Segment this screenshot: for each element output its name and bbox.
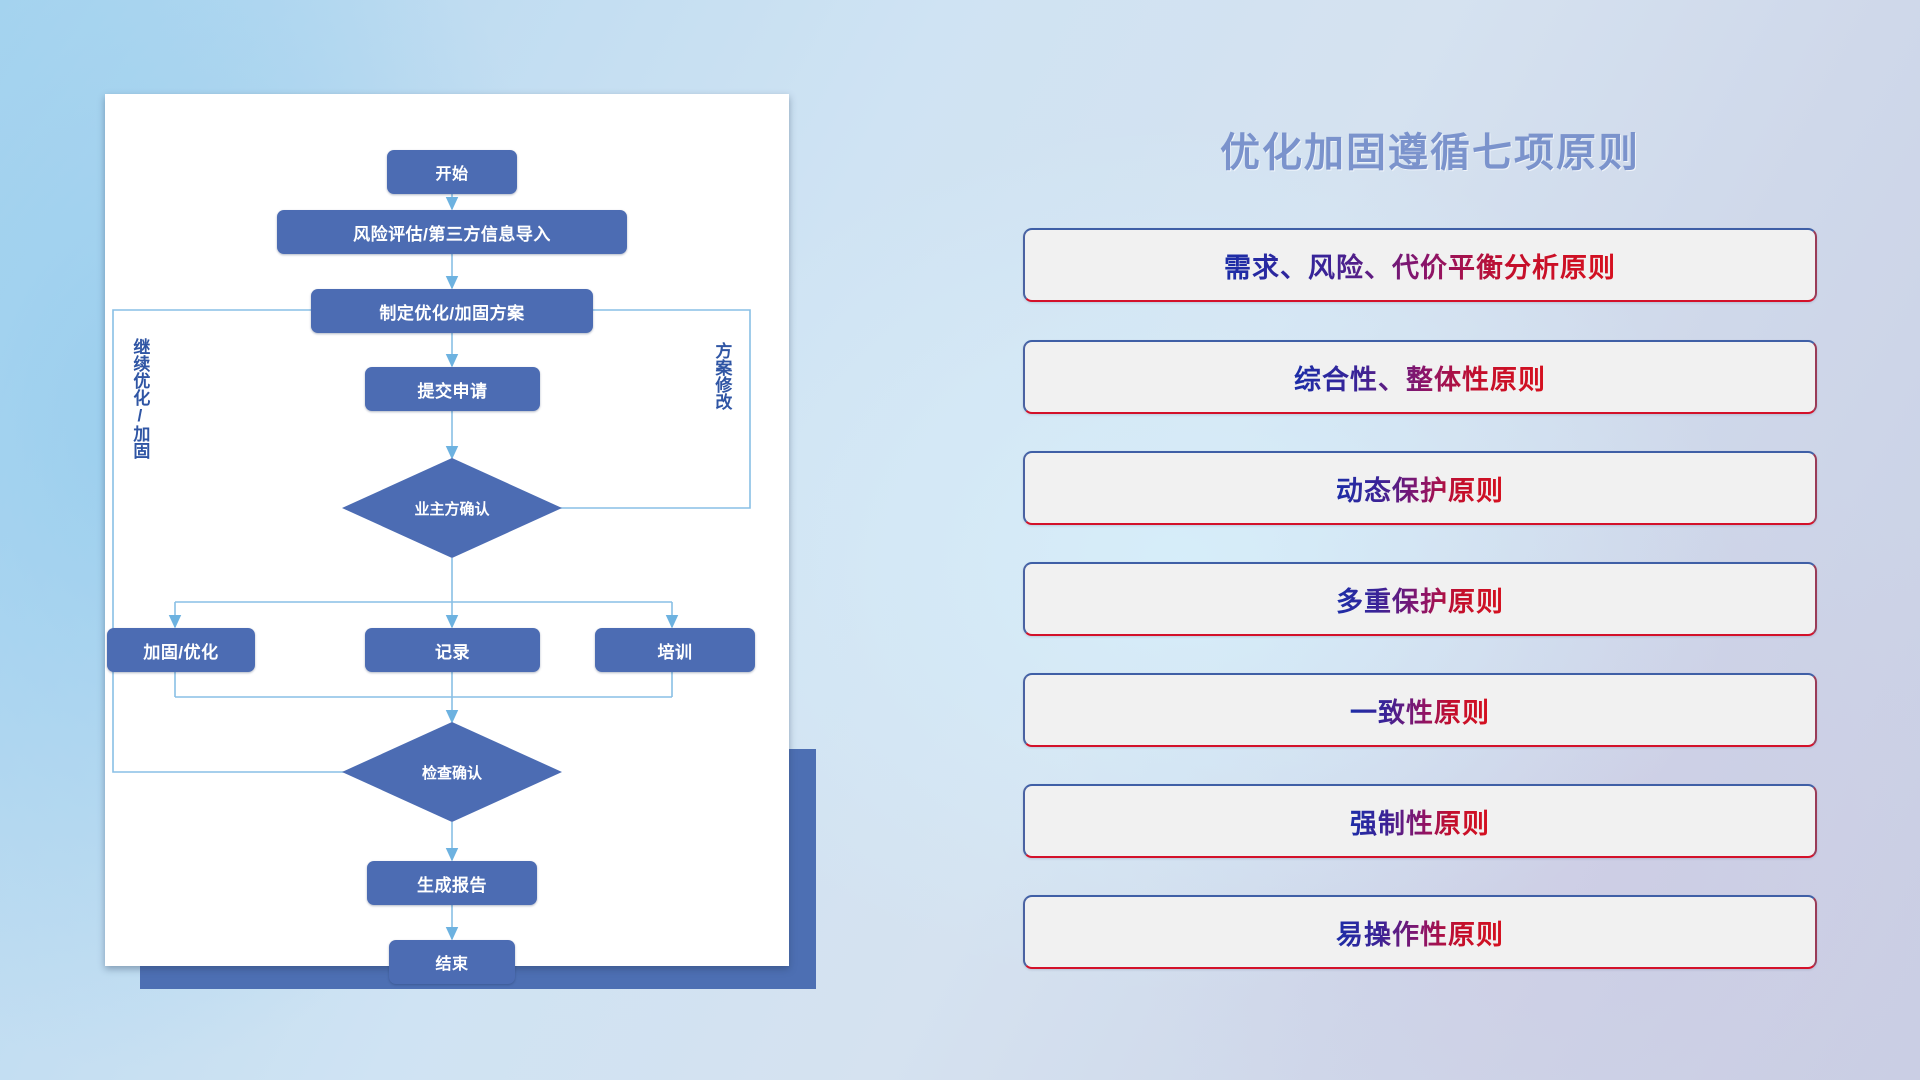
principle-item-3[interactable]: 动态保护原则 — [1023, 451, 1817, 525]
flow-node-label: 生成报告 — [417, 871, 487, 896]
flow-node-label: 开始 — [435, 160, 468, 184]
flow-node-label: 培训 — [658, 638, 693, 663]
principle-label: 一致性原则 — [1350, 691, 1490, 730]
flow-node-label: 加固/优化 — [143, 638, 218, 663]
slide-root: 开始 风险评估/第三方信息导入 制定优化/加固方案 提交申请 业主方确认 加固/… — [0, 0, 1920, 1080]
flow-node-owner-confirm[interactable]: 业主方确认 — [342, 458, 562, 558]
edge-label-continue-optimize: 继续优化/加固 — [131, 338, 148, 459]
flowchart-card: 开始 风险评估/第三方信息导入 制定优化/加固方案 提交申请 业主方确认 加固/… — [105, 94, 789, 966]
flow-node-end[interactable]: 结束 — [389, 940, 515, 984]
flow-node-label: 提交申请 — [418, 377, 488, 402]
flow-node-submit-application[interactable]: 提交申请 — [365, 367, 540, 411]
principle-item-4[interactable]: 多重保护原则 — [1023, 562, 1817, 636]
flow-node-label: 检查确认 — [422, 762, 482, 783]
edge-label-plan-revision: 方案修改 — [713, 342, 730, 410]
principle-item-7[interactable]: 易操作性原则 — [1023, 895, 1817, 969]
flow-node-generate-report[interactable]: 生成报告 — [367, 861, 537, 905]
principle-item-5[interactable]: 一致性原则 — [1023, 673, 1817, 747]
principles-panel: 优化加固遵循七项原则 需求、风险、代价平衡分析原则 综合性、整体性原则 动态保护… — [1020, 94, 1840, 1014]
principle-label: 动态保护原则 — [1336, 469, 1504, 508]
principle-label: 多重保护原则 — [1336, 580, 1504, 619]
flow-node-reinforce[interactable]: 加固/优化 — [107, 628, 255, 672]
principle-item-1[interactable]: 需求、风险、代价平衡分析原则 — [1023, 228, 1817, 302]
principles-title: 优化加固遵循七项原则 — [1020, 120, 1840, 178]
flow-node-label: 风险评估/第三方信息导入 — [353, 220, 551, 245]
flow-node-start[interactable]: 开始 — [387, 150, 517, 194]
flow-node-label: 结束 — [435, 950, 468, 974]
flow-node-label: 记录 — [435, 638, 470, 663]
flow-node-plan[interactable]: 制定优化/加固方案 — [311, 289, 593, 333]
principle-label: 需求、风险、代价平衡分析原则 — [1224, 246, 1616, 285]
flow-node-check-confirm[interactable]: 检查确认 — [342, 722, 562, 822]
principle-label: 易操作性原则 — [1336, 913, 1504, 952]
flow-node-record[interactable]: 记录 — [365, 628, 540, 672]
flow-node-training[interactable]: 培训 — [595, 628, 755, 672]
flow-node-risk-assessment[interactable]: 风险评估/第三方信息导入 — [277, 210, 627, 254]
principle-label: 强制性原则 — [1350, 802, 1490, 841]
principle-label: 综合性、整体性原则 — [1294, 358, 1546, 397]
principle-item-2[interactable]: 综合性、整体性原则 — [1023, 340, 1817, 414]
flow-node-label: 制定优化/加固方案 — [379, 299, 524, 324]
principle-item-6[interactable]: 强制性原则 — [1023, 784, 1817, 858]
flow-node-label: 业主方确认 — [414, 498, 489, 519]
